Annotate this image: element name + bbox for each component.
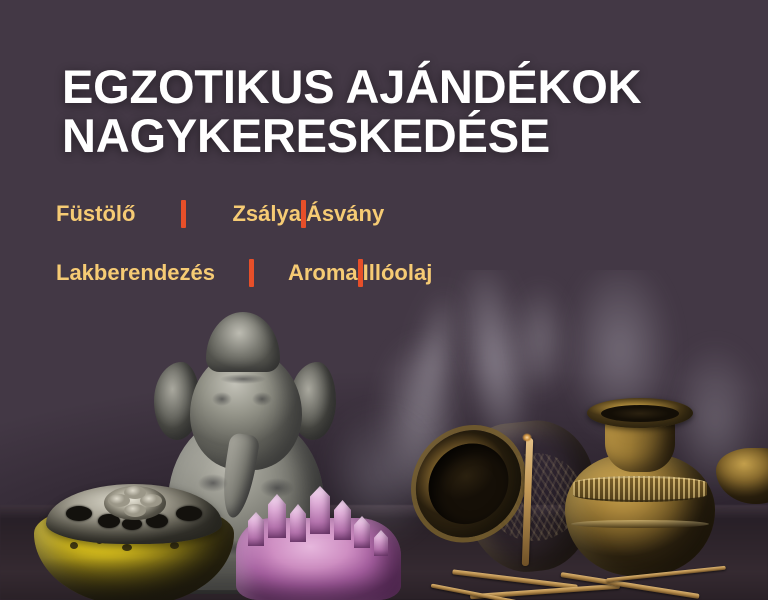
crystal-point: [310, 486, 330, 534]
vase-lower-band: [571, 520, 709, 528]
category-illoolaj[interactable]: Illóolaj: [363, 260, 433, 286]
crystal-point: [248, 512, 264, 546]
crystal-point: [268, 494, 286, 538]
promo-banner: EGZOTIKUS AJÁNDÉKOK NAGYKERESKEDÉSE Füst…: [0, 0, 768, 600]
statue-detail: [252, 392, 272, 406]
category-row-1: Füstölő Zsálya Ásvány: [56, 200, 384, 228]
separator-bar-icon: [249, 259, 254, 287]
category-fustolo[interactable]: Füstölő: [56, 201, 135, 227]
page-title: EGZOTIKUS AJÁNDÉKOK NAGYKERESKEDÉSE: [62, 62, 722, 160]
category-aroma[interactable]: Aroma: [288, 260, 358, 286]
vase-rim: [587, 398, 693, 428]
vase-body: [565, 454, 715, 576]
incense-burner: [34, 476, 234, 600]
statue-detail: [212, 392, 232, 406]
statue-crown: [206, 312, 280, 372]
amethyst-cluster: [236, 490, 401, 600]
incense-ember: [522, 433, 532, 442]
crystal-point: [334, 500, 351, 540]
category-asvany[interactable]: Ásvány: [306, 201, 384, 227]
product-scene: [0, 270, 768, 600]
lid-floral-motif: [104, 486, 166, 520]
category-zsalya[interactable]: Zsálya: [232, 201, 301, 227]
burner-lid: [46, 484, 222, 544]
category-lakberendezes[interactable]: Lakberendezés: [56, 260, 215, 286]
vase-pattern-band: [573, 476, 707, 502]
brass-vase: [565, 391, 715, 576]
crystal-point: [290, 504, 306, 542]
category-row-2: Lakberendezés Aroma Illóolaj: [56, 259, 432, 287]
statue-detail: [220, 374, 266, 384]
separator-bar-icon: [181, 200, 186, 228]
